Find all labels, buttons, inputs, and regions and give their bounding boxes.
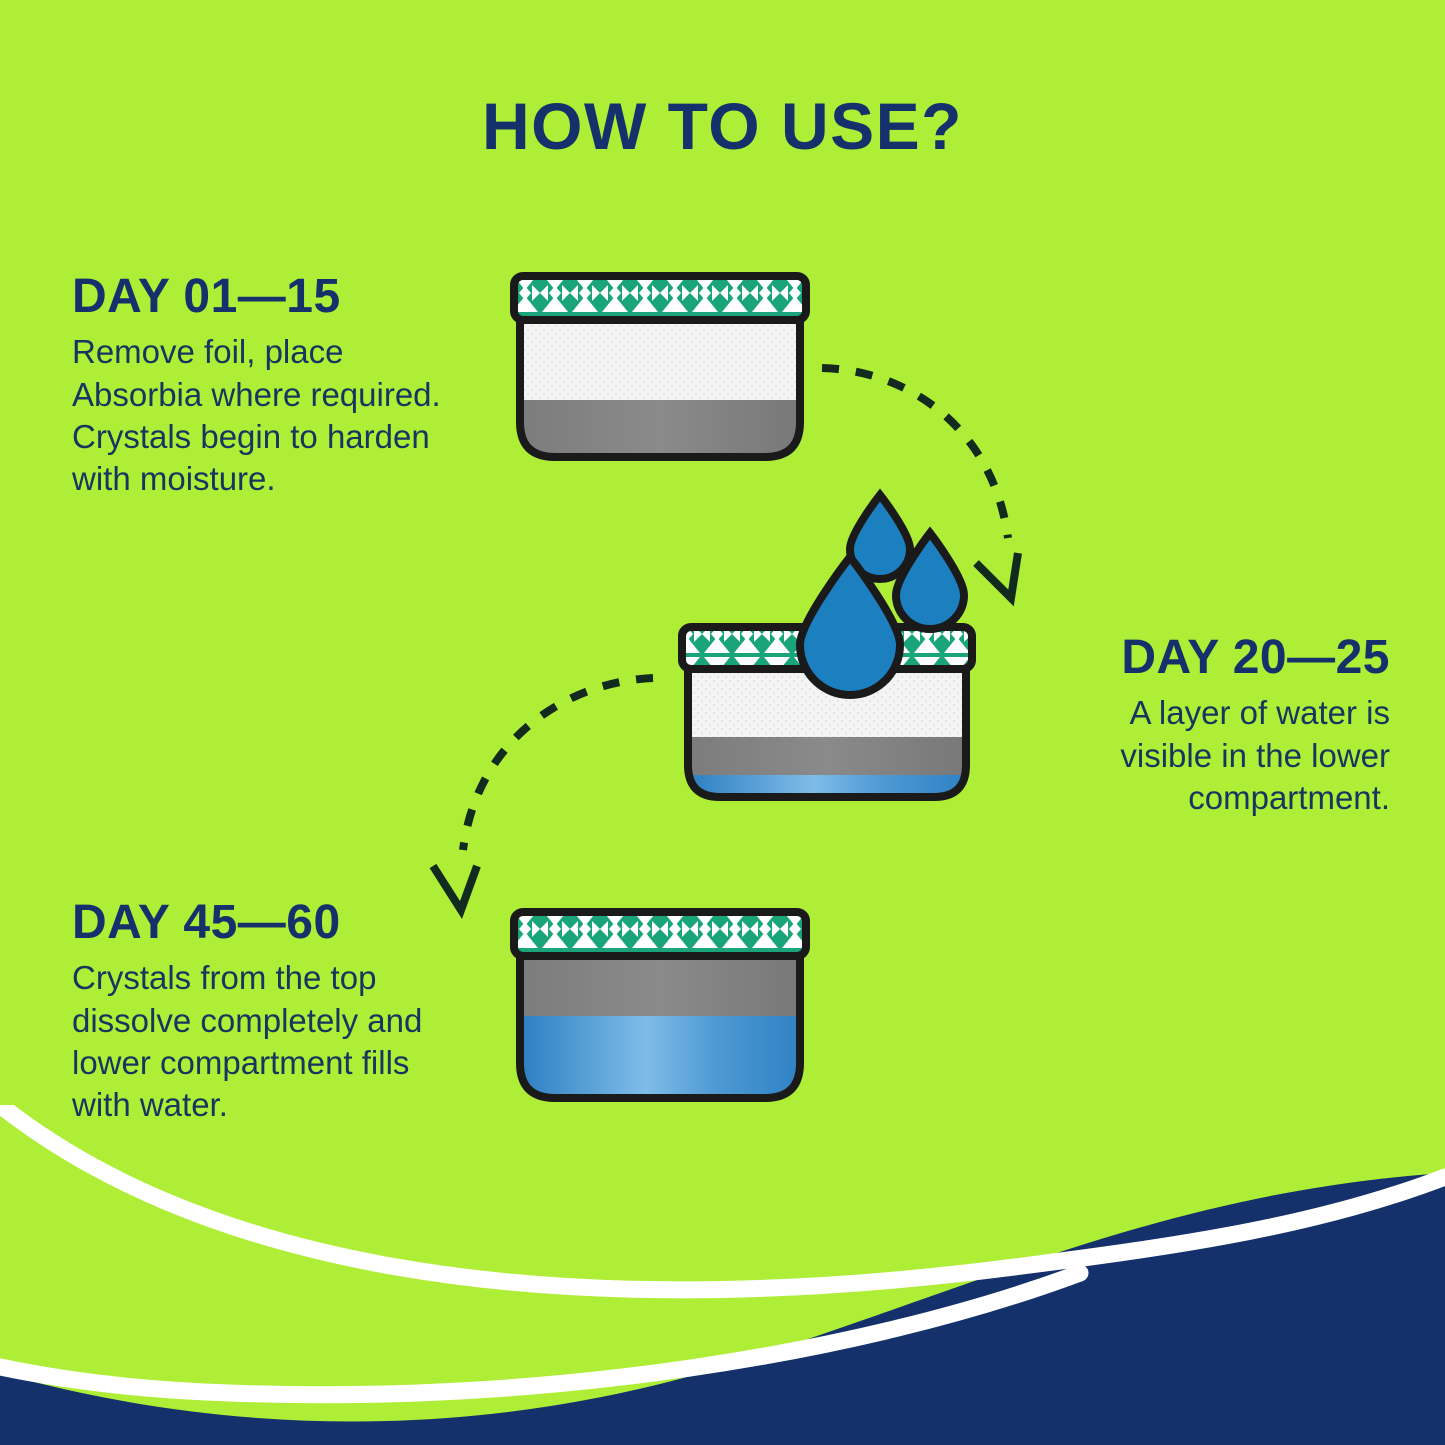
gray-layer — [520, 400, 800, 460]
jar-body — [520, 310, 800, 460]
jar-day-20-25 — [672, 487, 982, 812]
step-3-heading: DAY 45—60 — [72, 898, 472, 948]
step-3-text-block: DAY 45—60 Crystals from the top dissolve… — [72, 898, 472, 1126]
step-1-text-block: DAY 01—15 Remove foil, place Absorbia wh… — [72, 272, 502, 500]
step-1-body: Remove foil, place Absorbia where requir… — [72, 331, 502, 500]
bottom-wave-decoration — [0, 1105, 1445, 1445]
jar-day-01-15 — [510, 272, 810, 467]
arrow-dashed-path — [463, 678, 653, 850]
jar-body — [520, 948, 800, 1106]
water-layer-full — [520, 1016, 800, 1106]
step-2-text-block: DAY 20—25 A layer of water is visible in… — [1030, 633, 1390, 819]
arrow-head — [976, 553, 1018, 598]
step-2-body: A layer of water is visible in the lower… — [1030, 692, 1390, 819]
step-3-body: Crystals from the top dissolve completel… — [72, 957, 472, 1126]
infographic-poster: HOW TO USE? DAY 01—15 Remove foil, place… — [0, 0, 1445, 1445]
arrow-head — [433, 866, 477, 910]
lid-lattice — [514, 276, 806, 320]
step-1-heading: DAY 01—15 — [72, 272, 502, 322]
step-2-heading: DAY 20—25 — [1030, 633, 1390, 683]
lid-lattice — [514, 912, 806, 956]
page-title: HOW TO USE? — [0, 88, 1445, 164]
jar-day-45-60 — [510, 908, 810, 1108]
arrow-step2-to-step3 — [415, 668, 660, 943]
